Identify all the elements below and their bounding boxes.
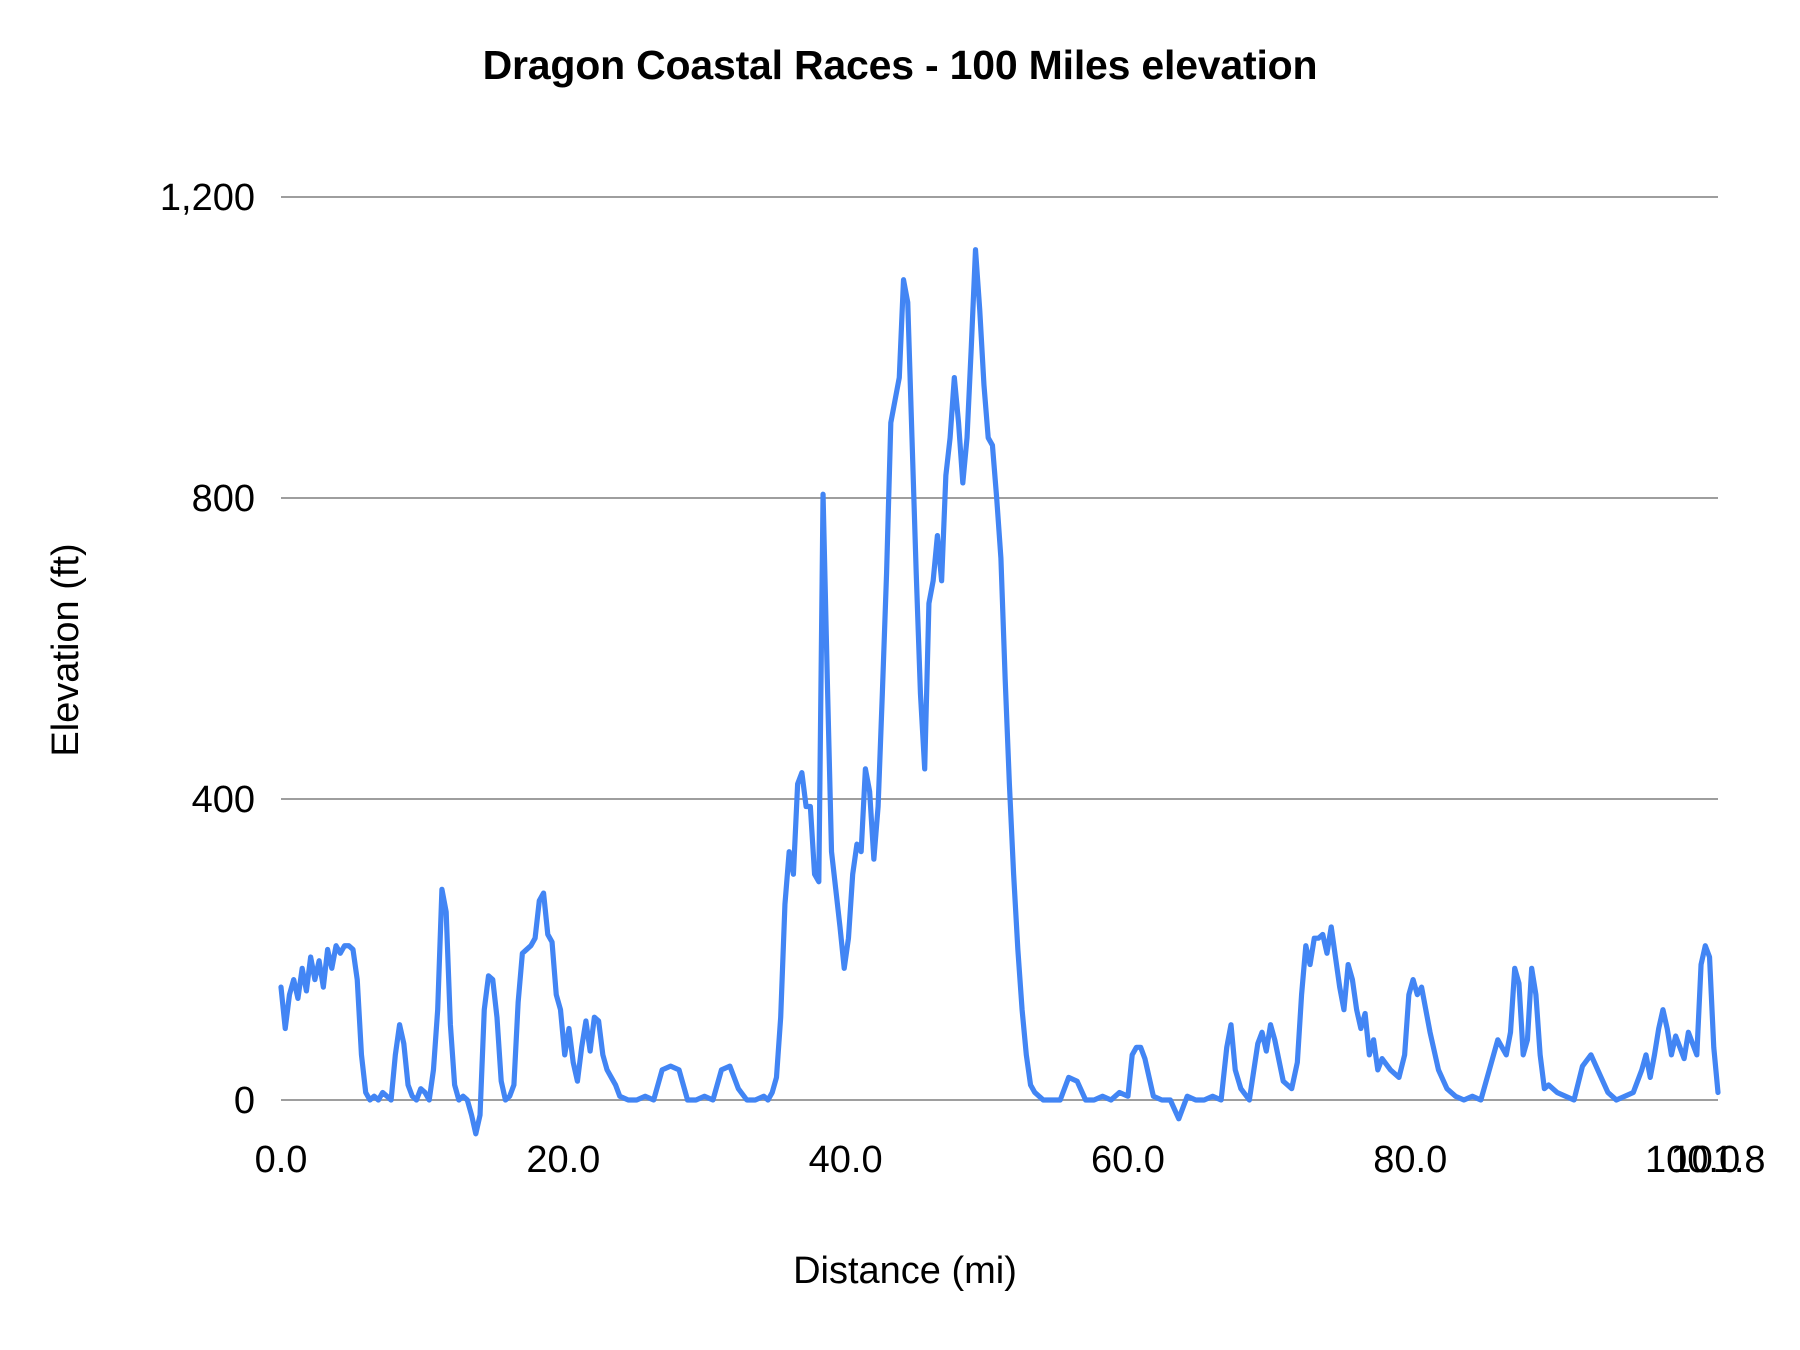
y-axis-tick-label: 800 — [192, 478, 255, 520]
x-axis-tick-label: 101.8 — [1670, 1139, 1765, 1181]
x-axis-tick-label: 40.0 — [809, 1139, 883, 1181]
x-axis-tick-label: 80.0 — [1373, 1139, 1447, 1181]
y-axis-tick-label: 1,200 — [160, 177, 255, 219]
y-axis-tick-label: 400 — [192, 779, 255, 821]
y-axis-title: Elevation (ft) — [45, 543, 87, 756]
x-axis-tick-label: 0.0 — [255, 1139, 308, 1181]
chart-container: Dragon Coastal Races - 100 Miles elevati… — [0, 0, 1800, 1350]
x-axis-title: Distance (mi) — [793, 1250, 1017, 1292]
elevation-line-chart: 04008001,200 0.020.040.060.080.0100.0101… — [0, 0, 1800, 1350]
gridlines — [281, 197, 1718, 1100]
x-axis-tick-label: 60.0 — [1091, 1139, 1165, 1181]
series-group — [281, 250, 1718, 1134]
y-axis-tick-label: 0 — [234, 1080, 255, 1122]
x-axis-tick-labels: 0.020.040.060.080.0100.0101.8 — [255, 1139, 1766, 1181]
elevation-series-line — [281, 250, 1718, 1134]
y-axis-tick-labels: 04008001,200 — [160, 177, 255, 1122]
x-axis-tick-label: 20.0 — [526, 1139, 600, 1181]
